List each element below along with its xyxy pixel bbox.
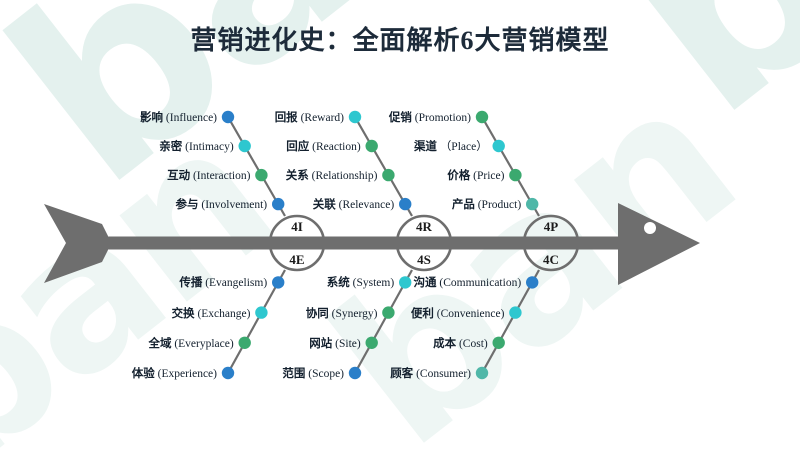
node-label-4i: 4I: [291, 219, 303, 234]
branch-label-en: (Reward): [298, 112, 344, 124]
branch-label-cn: 回报: [275, 112, 298, 124]
branch-label-cn: 关联: [313, 199, 336, 211]
branch-label-en: (Evangelism): [202, 277, 267, 289]
branch-dot: [399, 198, 411, 210]
fishbone-spine: [108, 237, 618, 250]
branch-label: 成本 (Cost): [433, 335, 488, 351]
branch-label: 互动 (Interaction): [167, 167, 250, 183]
branch-label: 顾客 (Consumer): [390, 365, 471, 381]
branch-dot: [526, 276, 538, 288]
branch-label: 便利 (Convenience): [411, 305, 505, 321]
spine-group: [44, 203, 700, 285]
branch-label: 系统 (System): [327, 274, 394, 290]
branch-label: 网站 (Site): [309, 335, 360, 351]
branch-label: 促销 (Promotion): [389, 109, 471, 125]
node-label-4e: 4E: [289, 252, 304, 267]
branch-label: 渠道 （Place）: [414, 138, 488, 154]
branch-label: 范围 (Scope): [282, 365, 344, 381]
branch-dot: [509, 169, 521, 181]
branch-label-en: (Exchange): [195, 308, 251, 320]
branch-label: 参与 (Involvement): [175, 196, 267, 212]
slide-canvas: ban ban ban ban 营销进化史：全面解析6大营销模型 4I4E4R4…: [0, 0, 800, 449]
branch-label-cn: 协同: [306, 308, 329, 320]
branch-label-en: (Relationship): [309, 170, 378, 182]
branch-label: 协同 (Synergy): [306, 305, 378, 321]
branch-dot: [255, 169, 267, 181]
branch-label-en: (Convenience): [434, 308, 505, 320]
node-label-4c: 4C: [543, 252, 559, 267]
fishbone-tail: [44, 204, 108, 283]
branch-label-en: (Cost): [456, 338, 488, 350]
branch-label-cn: 全域: [148, 338, 171, 350]
fishbone-head: [618, 203, 700, 285]
branch-label-en: (Relevance): [336, 199, 394, 211]
branch-label: 产品 (Product): [452, 196, 521, 212]
branch-label-cn: 便利: [411, 308, 434, 320]
branch-label-en: (Product): [475, 199, 521, 211]
branch-dot: [382, 169, 394, 181]
branch-label-cn: 传播: [179, 277, 202, 289]
branch-dot: [349, 111, 361, 123]
branch-label: 关联 (Relevance): [313, 196, 394, 212]
branch-dot: [493, 140, 505, 152]
branch-dot: [493, 337, 505, 349]
branch-dot: [526, 198, 538, 210]
node-label-4s: 4S: [417, 252, 431, 267]
node-label-4r: 4R: [416, 219, 433, 234]
branch-dot: [476, 111, 488, 123]
branch-label-en: (Scope): [305, 368, 344, 380]
branch-dot: [382, 306, 394, 318]
branch-label-cn: 促销: [389, 112, 412, 124]
branch-label: 价格 (Price): [447, 167, 504, 183]
branch-dot: [222, 111, 234, 123]
branch-label-cn: 回应: [286, 141, 309, 153]
branch-label-en: (Intimacy): [182, 141, 233, 153]
branch-label: 回报 (Reward): [275, 109, 344, 125]
branch-label-en: (Interaction): [190, 170, 250, 182]
branch-label-cn: 关系: [286, 170, 309, 182]
branch-label-en: (Communication): [437, 277, 522, 289]
branch-label-en: (System): [350, 277, 394, 289]
page-title: 营销进化史：全面解析6大营销模型: [0, 20, 800, 57]
branch-dot: [222, 367, 234, 379]
branch-dot: [366, 140, 378, 152]
node-label-4p: 4P: [544, 219, 559, 234]
branch-label-cn: 网站: [309, 338, 332, 350]
branch-label: 传播 (Evangelism): [179, 274, 267, 290]
branch-label: 全域 (Everyplace): [148, 335, 233, 351]
branch-label-cn: 互动: [167, 170, 190, 182]
branch-label-en: (Site): [332, 338, 360, 350]
branch-dot: [509, 306, 521, 318]
branch-dot: [272, 276, 284, 288]
branch-label-cn: 产品: [452, 199, 475, 211]
branch-label-cn: 价格: [447, 170, 470, 182]
branch-dot: [399, 276, 411, 288]
branch-label-en: (Promotion): [412, 112, 471, 124]
branch-label-cn: 体验: [132, 368, 155, 380]
branch-label-cn: 渠道: [414, 141, 437, 153]
branch-label-cn: 系统: [327, 277, 350, 289]
branch-label-en: （Place）: [437, 141, 488, 153]
branch-label: 关系 (Relationship): [286, 167, 378, 183]
branch-dot: [349, 367, 361, 379]
branch-label-cn: 顾客: [390, 368, 413, 380]
branch-label: 体验 (Experience): [132, 365, 217, 381]
branch-dot: [366, 337, 378, 349]
branch-label: 亲密 (Intimacy): [159, 138, 233, 154]
branch-label: 影响 (Influence): [140, 109, 217, 125]
branch-label-cn: 亲密: [159, 141, 182, 153]
branch-label: 沟通 (Communication): [414, 274, 522, 290]
branch-label-cn: 沟通: [414, 277, 437, 289]
branch-label-cn: 范围: [282, 368, 305, 380]
branch-label: 回应 (Reaction): [286, 138, 360, 154]
branch-label-cn: 交换: [172, 308, 195, 320]
branch-label-en: (Influence): [163, 112, 217, 124]
branch-label-cn: 参与: [175, 199, 198, 211]
branch-label-en: (Involvement): [198, 199, 267, 211]
branch-label-en: (Consumer): [413, 368, 471, 380]
branch-dot: [255, 306, 267, 318]
fishbone-diagram: 4I4E4R4S4P4C: [0, 0, 800, 449]
branch-label-en: (Experience): [155, 368, 217, 380]
branch-label-cn: 成本: [433, 338, 456, 350]
branch-dot: [272, 198, 284, 210]
branch-label-en: (Reaction): [309, 141, 360, 153]
branch-label-en: (Everyplace): [171, 338, 233, 350]
branch-label-cn: 影响: [140, 112, 163, 124]
fish-eye-icon: [644, 222, 656, 234]
branch-label-en: (Price): [470, 170, 504, 182]
branch-dot: [239, 140, 251, 152]
branch-label: 交换 (Exchange): [172, 305, 251, 321]
branch-dot: [476, 367, 488, 379]
branch-label-en: (Synergy): [329, 308, 378, 320]
branch-dot: [239, 337, 251, 349]
